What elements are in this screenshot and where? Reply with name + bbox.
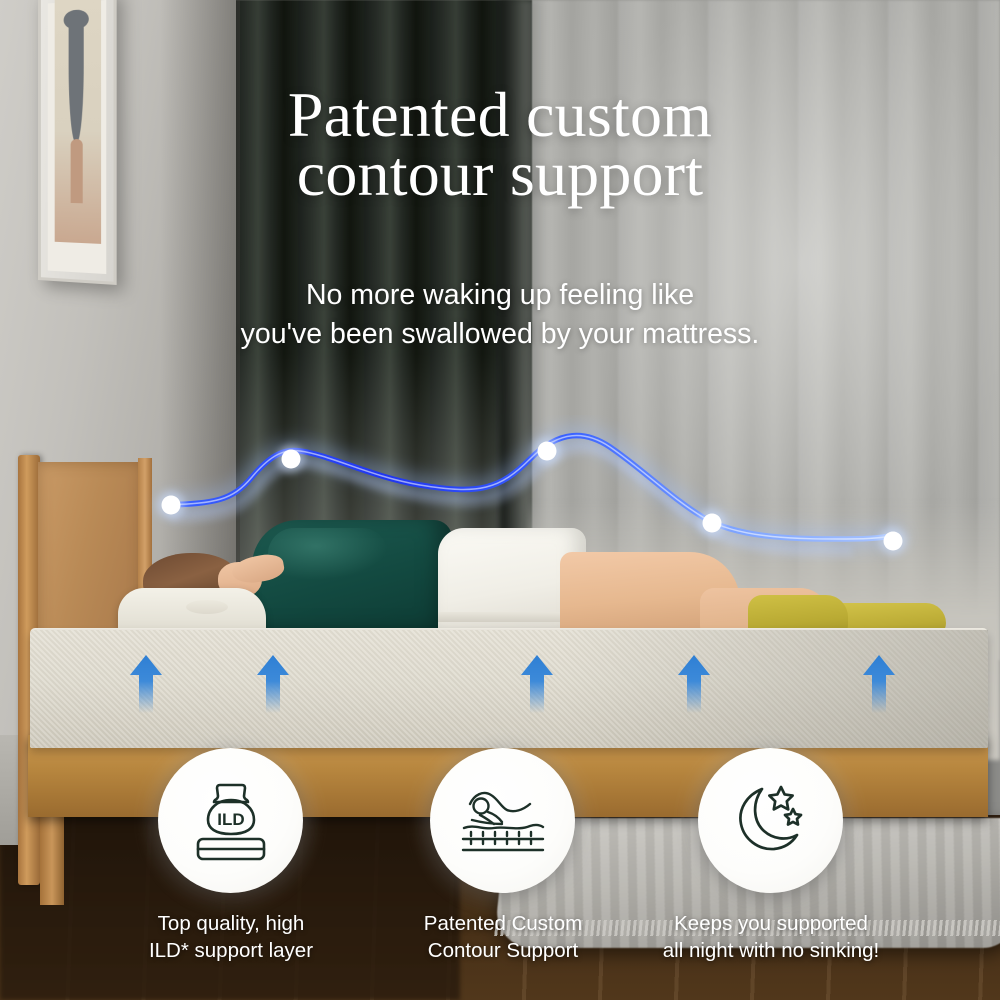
feature-caption-3-line-1: Keeps you supported [636, 910, 906, 937]
support-arrow-2 [255, 653, 291, 715]
feature-caption-2: Patented Custom Contour Support [368, 910, 638, 964]
feature-caption-1: Top quality, high ILD* support layer [96, 910, 366, 964]
feature-caption-1-line-1: Top quality, high [96, 910, 366, 937]
support-arrow-4 [676, 653, 712, 715]
ild-weight-on-mattress-icon: ILD [190, 779, 272, 863]
feature-item-ild[interactable]: ILD Top quality, high ILD* support layer [158, 748, 303, 893]
feature-caption-2-line-2: Contour Support [368, 937, 638, 964]
feature-caption-1-line-2: ILD* support layer [96, 937, 366, 964]
headline-line-1: Patented custom [0, 86, 1000, 145]
feature-caption-3-line-2: all night with no sinking! [636, 937, 906, 964]
mattress-marketing-image: Patented custom contour support No more … [0, 0, 1000, 1000]
feature-icon-badge-3 [698, 748, 843, 893]
subheadline-line-2: you've been swallowed by your mattress. [0, 315, 1000, 354]
ild-icon-label: ILD [217, 810, 244, 829]
crescent-moon-stars-icon [729, 781, 813, 861]
support-arrow-3 [519, 653, 555, 715]
feature-item-contour[interactable]: Patented Custom Contour Support [430, 748, 575, 893]
mattress-shadow [560, 630, 988, 748]
person-on-contour-mattress-icon [458, 782, 548, 860]
headline-line-2: contour support [0, 145, 1000, 204]
subheadline-line-1: No more waking up feeling like [0, 276, 1000, 315]
contour-support-line-graphic [0, 415, 1000, 595]
support-arrow-1 [128, 653, 164, 715]
feature-icon-badge-2 [430, 748, 575, 893]
feature-icon-badge-1: ILD [158, 748, 303, 893]
feature-item-no-sinking[interactable]: Keeps you supported all night with no si… [698, 748, 843, 893]
page-headline: Patented custom contour support [0, 86, 1000, 204]
page-subheadline: No more waking up feeling like you've be… [0, 276, 1000, 355]
support-arrow-5 [861, 653, 897, 715]
feature-caption-2-line-1: Patented Custom [368, 910, 638, 937]
feature-caption-3: Keeps you supported all night with no si… [636, 910, 906, 964]
contour-pillow-notch [186, 600, 228, 614]
